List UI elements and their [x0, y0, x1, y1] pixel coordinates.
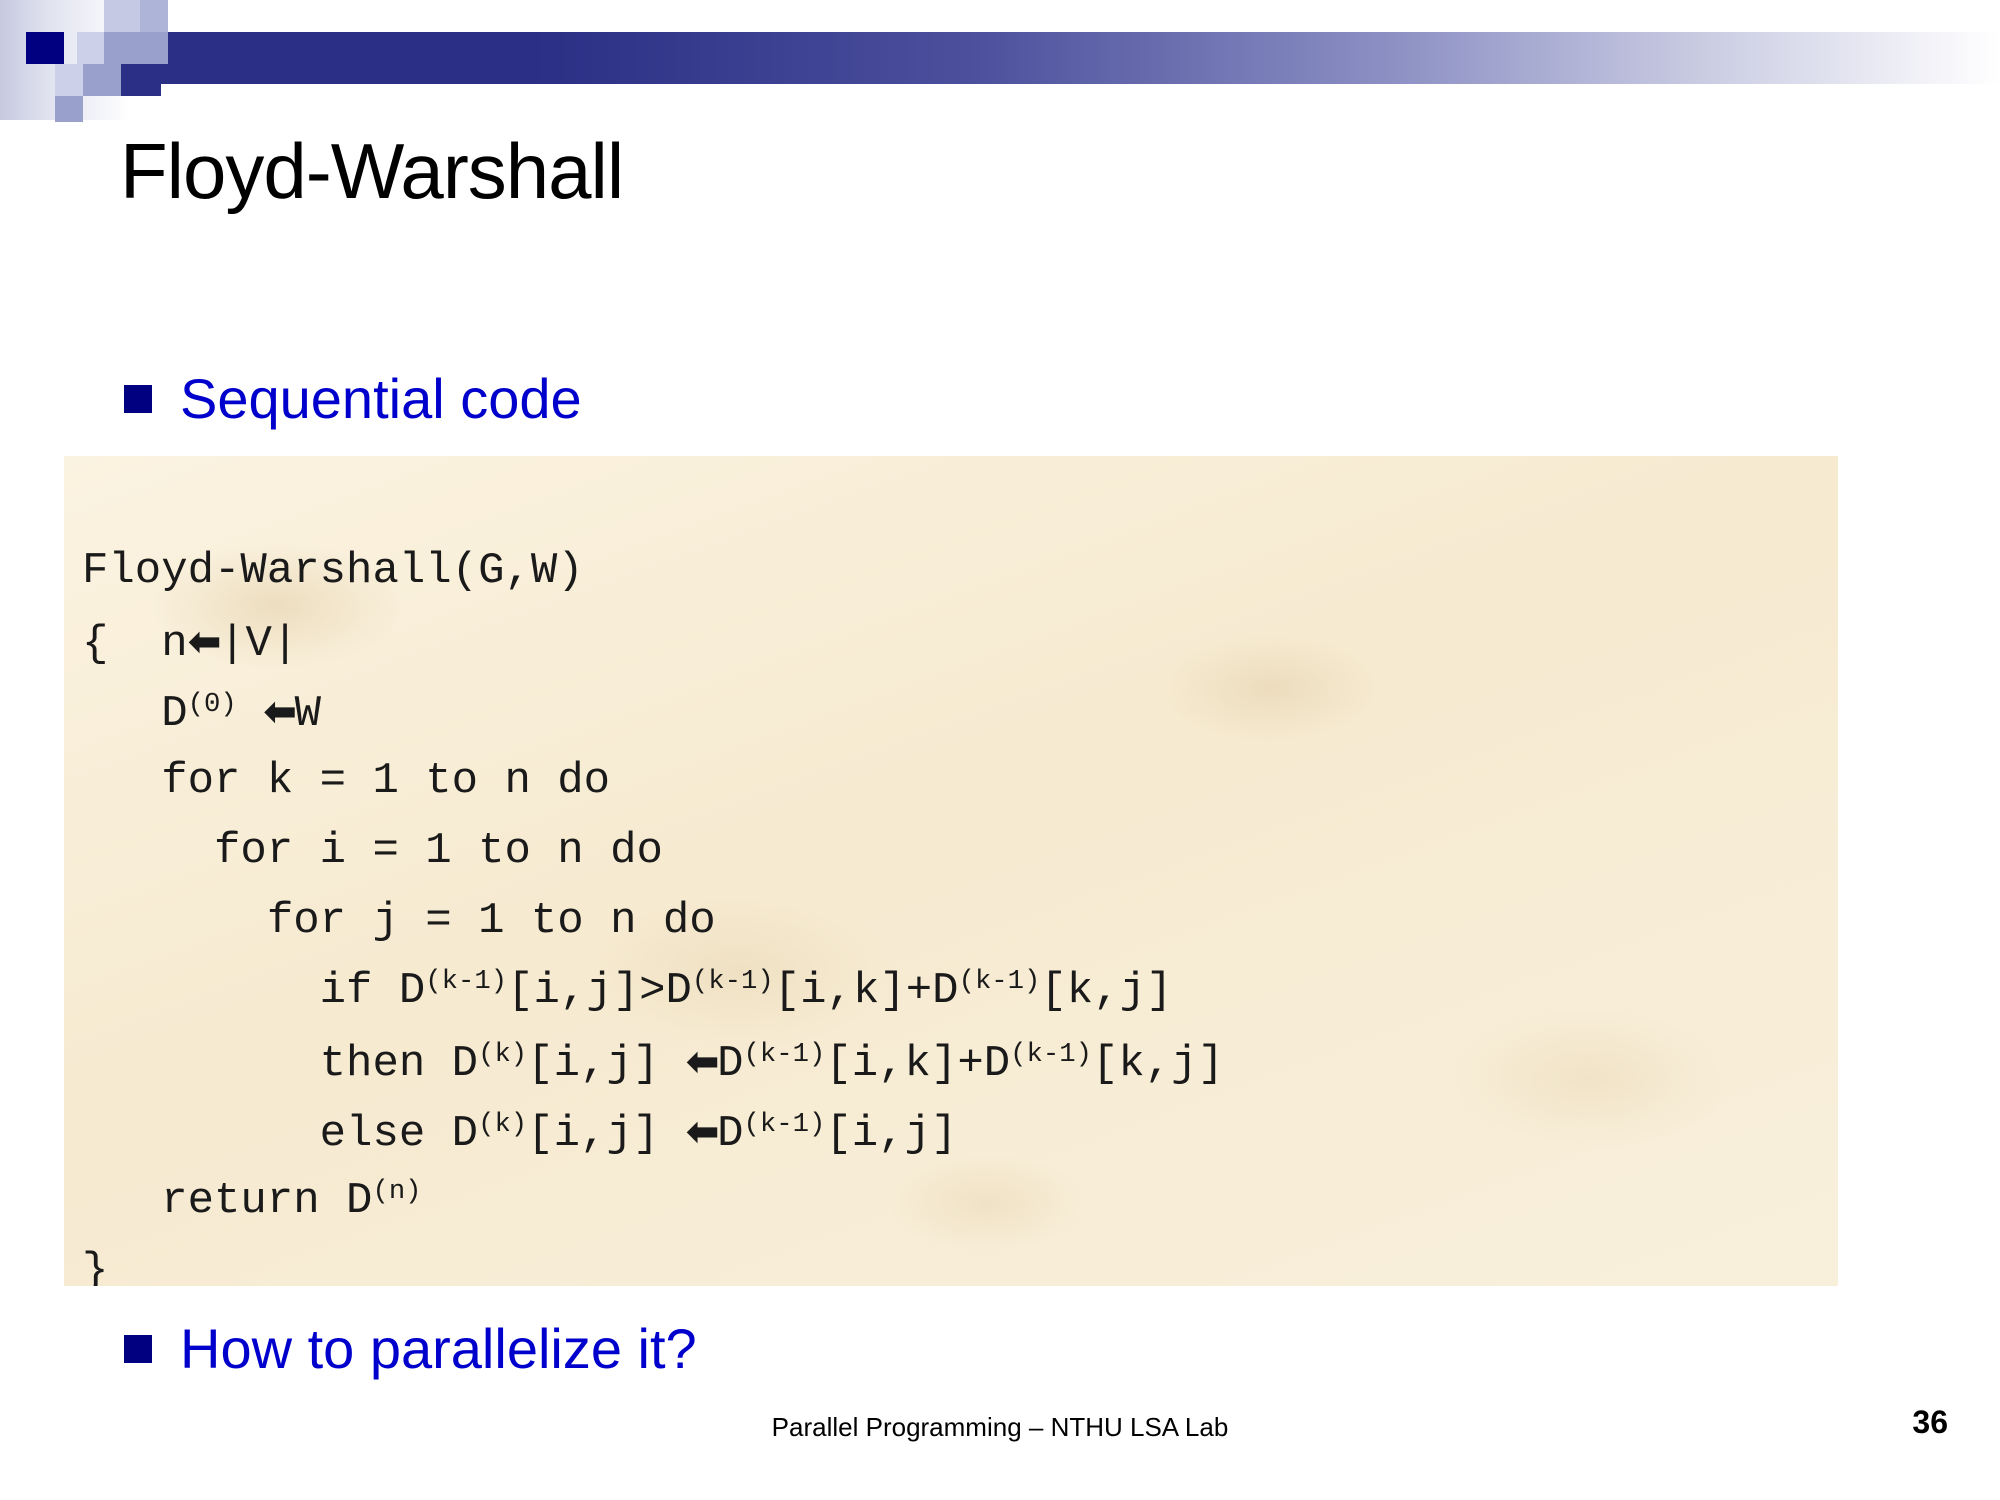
header-square-mid-c — [83, 64, 121, 96]
code-line: return D(n) — [82, 1166, 1224, 1236]
header-square-navy — [26, 32, 64, 64]
square-bullet-icon — [124, 385, 152, 413]
assign-arrow-icon: ⬅ — [686, 1107, 717, 1155]
bullet-label-how-to-parallelize: How to parallelize it? — [180, 1318, 697, 1380]
pseudocode-listing: Floyd-Warshall(G,W){ n⬅|V| D(0) ⬅W for k… — [82, 466, 1224, 1286]
header-square-dark-c — [121, 64, 161, 96]
assign-arrow-icon: ⬅ — [263, 687, 294, 735]
header-gradient-bar — [120, 32, 2000, 84]
code-line: for j = 1 to n do — [82, 886, 1224, 956]
header-square-light-top2 — [140, 0, 168, 32]
code-line: D(0) ⬅W — [82, 676, 1224, 746]
code-line: Floyd-Warshall(G,W) — [82, 536, 1224, 606]
code-line: { n⬅|V| — [82, 606, 1224, 676]
bullet-item-sequential-code: Sequential code — [124, 368, 582, 430]
bullet-label-sequential-code: Sequential code — [180, 368, 582, 430]
code-line: else D(k)[i,j] ⬅D(k-1)[i,j] — [82, 1096, 1224, 1166]
header-decoration — [0, 0, 2000, 120]
square-bullet-icon — [124, 1335, 152, 1363]
code-line: if D(k-1)[i,j]>D(k-1)[i,k]+D(k-1)[k,j] — [82, 956, 1224, 1026]
assign-arrow-icon: ⬅ — [188, 617, 219, 665]
slide-page-number: 36 — [1912, 1404, 1948, 1441]
header-square-mid-d — [55, 96, 83, 122]
header-square-mid-b — [140, 32, 168, 64]
page-title: Floyd-Warshall — [120, 128, 623, 214]
slide-footer-text: Parallel Programming – NTHU LSA Lab — [0, 1412, 2000, 1443]
assign-arrow-icon: ⬅ — [686, 1037, 717, 1085]
bullet-item-how-to-parallelize: How to parallelize it? — [124, 1318, 697, 1380]
code-block-panel: Floyd-Warshall(G,W){ n⬅|V| D(0) ⬅W for k… — [64, 456, 1838, 1286]
code-line: then D(k)[i,j] ⬅D(k-1)[i,k]+D(k-1)[k,j] — [82, 1026, 1224, 1096]
code-line: for k = 1 to n do — [82, 746, 1224, 816]
code-line: for i = 1 to n do — [82, 816, 1224, 886]
slide-canvas: Floyd-Warshall Sequential code Floyd-War… — [0, 0, 2000, 1500]
header-square-mid-a — [104, 32, 140, 64]
header-square-light-top — [104, 0, 140, 32]
header-square-pale-b — [55, 64, 83, 96]
code-line: } — [82, 1236, 1224, 1286]
